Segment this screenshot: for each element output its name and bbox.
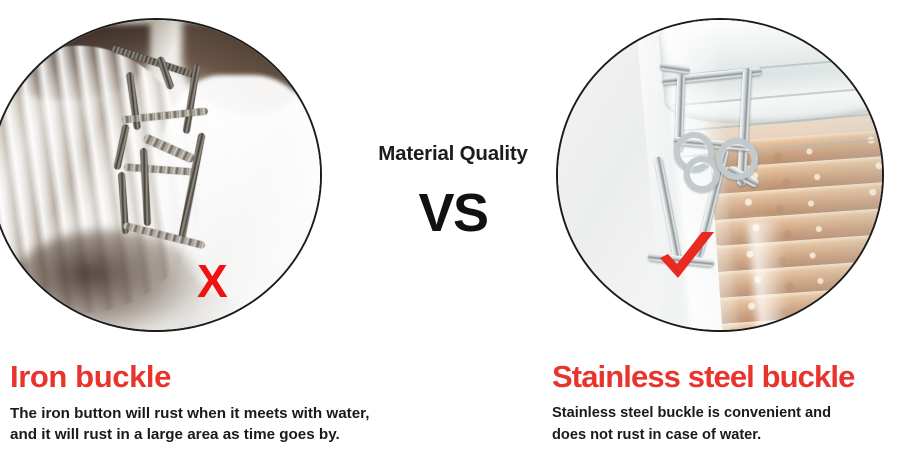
steel-ring-lower (684, 156, 720, 192)
description-line: and it will rust in a large area as time… (10, 424, 460, 446)
iron-buckle-photo-inner: X (0, 20, 320, 330)
iron-buckle-title: Iron buckle (10, 361, 460, 394)
steel-ring-right (716, 138, 758, 180)
page-title: Material Quality (358, 142, 548, 166)
description-line: The iron button will rust when it meets … (10, 403, 460, 425)
iron-buckle-photo: X (0, 18, 322, 332)
description-line: does not rust in case of water. (552, 425, 908, 447)
stainless-buckle-title: Stainless steel buckle (552, 361, 908, 394)
cross-mark: X (197, 258, 227, 304)
iron-buckle-description: The iron button will rust when it meets … (10, 403, 460, 446)
check-mark (656, 230, 718, 286)
description-line: Stainless steel buckle is convenient and (552, 403, 908, 425)
versus-label: VS (358, 186, 548, 240)
photo-shadow-bottom (12, 230, 202, 330)
stainless-buckle-photo-inner (558, 20, 882, 330)
comparison-infographic: X (0, 0, 908, 455)
iron-buckle-caption: Iron buckle The iron button will rust wh… (10, 361, 460, 446)
stainless-buckle-description: Stainless steel buckle is convenient and… (552, 403, 908, 447)
stainless-buckle-photo (556, 18, 884, 332)
stainless-buckle-caption: Stainless steel buckle Stainless steel b… (552, 361, 908, 447)
